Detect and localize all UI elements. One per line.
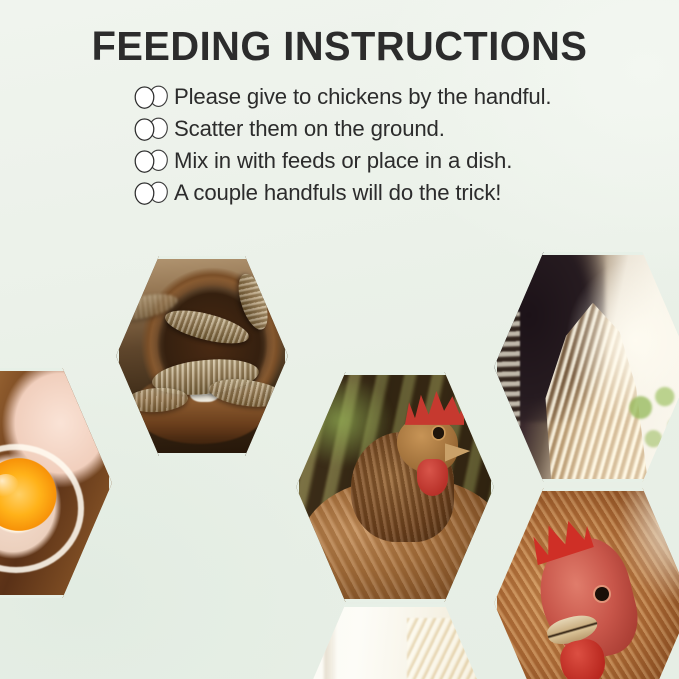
two-eggs-icon [128, 148, 174, 174]
coop-post [324, 604, 336, 679]
instruction-text: Scatter them on the ground. [174, 116, 445, 142]
hex-tile-chicken-closeup [494, 488, 679, 679]
instructions-list: Please give to chickens by the handful. … [0, 81, 679, 209]
hen-eye [433, 427, 445, 439]
instruction-text: Mix in with feeds or place in a dish. [174, 148, 512, 174]
background-texture [494, 312, 520, 455]
header-block: FEEDING INSTRUCTIONS Please give to chic… [0, 0, 679, 209]
list-item: Please give to chickens by the handful. [128, 81, 679, 113]
list-item: Mix in with feeds or place in a dish. [128, 145, 679, 177]
overexposed-coop-photo [296, 604, 494, 679]
cracked-egg-photo [0, 368, 112, 598]
hex-tile-larvae-bowl [116, 256, 288, 456]
page-title: FEEDING INSTRUCTIONS [10, 26, 669, 67]
larva-shape [162, 304, 252, 350]
instruction-text: A couple handfuls will do the trick! [174, 180, 501, 206]
backlit-chicken-photo [494, 252, 679, 482]
eggshell-rim [0, 444, 84, 573]
instruction-text: Please give to chickens by the handful. [174, 84, 551, 110]
feeding-instructions-graphic: FEEDING INSTRUCTIONS Please give to chic… [0, 0, 679, 679]
list-item: A couple handfuls will do the trick! [128, 177, 679, 209]
hex-tile-brown-hen [296, 372, 494, 602]
hex-tile-overexposed-coop [296, 604, 494, 679]
chicken-closeup-photo [494, 488, 679, 679]
two-eggs-icon [128, 84, 174, 110]
two-eggs-icon [128, 180, 174, 206]
hex-tile-backlit-chicken [494, 252, 679, 482]
larva-shape [233, 270, 274, 333]
chicken-eye [595, 587, 609, 601]
larvae-bowl-photo [116, 256, 288, 456]
two-eggs-icon [128, 116, 174, 142]
brown-hen-photo [296, 372, 494, 602]
straw-texture [407, 618, 494, 679]
list-item: Scatter them on the ground. [128, 113, 679, 145]
green-foliage [625, 381, 679, 459]
hex-tile-cracked-egg [0, 368, 112, 598]
